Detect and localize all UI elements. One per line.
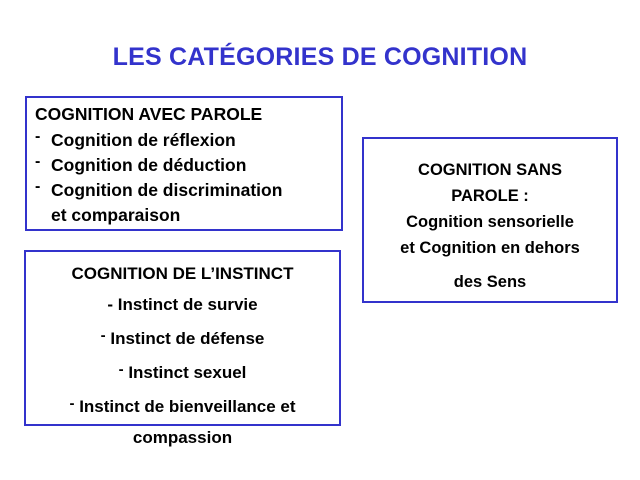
box-heading-instinct: COGNITION DE L’INSTINCT [30,258,335,289]
list-item-label: Instinct sexuel [128,363,246,382]
list-item-label: Cognition de discrimination [51,178,282,203]
list-item: - Instinct de défense [30,320,335,354]
box-line-cognition-en-dehors: et Cognition en dehors [368,235,612,261]
box-line-des-sens: des Sens [368,269,612,295]
box-heading-avec-parole: COGNITION AVEC PAROLE [35,102,341,127]
slide-canvas: { "slide": { "title": "LES CATÉGORIES DE… [0,0,640,480]
dash-bullet-icon: - [101,327,106,344]
dash-bullet-icon: - [119,361,124,378]
category-box-cognition-sans-parole: COGNITION SANS PAROLE : Cognition sensor… [362,137,618,303]
dash-bullet-icon: - [35,174,51,199]
category-box-cognition-de-l-instinct: COGNITION DE L’INSTINCT - Instinct de su… [24,250,341,426]
list-item: - Instinct de bienveillance et [30,388,335,422]
list-item-continuation: et comparaison [35,203,341,228]
dash-bullet-icon: - [35,149,51,174]
list-item-label: Instinct de défense [110,329,264,348]
category-box-cognition-avec-parole: COGNITION AVEC PAROLE -Cognition de réfl… [25,96,343,231]
box-line-cognition-sensorielle: Cognition sensorielle [368,209,612,235]
list-item-label: Cognition de déduction [51,153,246,178]
box-heading-sans-parole-line2: PAROLE : [368,183,612,209]
list-item: - Instinct sexuel [30,354,335,388]
list-item: -Cognition de déduction [35,153,341,178]
list-item-label: - Instinct de survie [107,295,257,314]
page-title: LES CATÉGORIES DE COGNITION [0,42,640,72]
list-item-label: Cognition de réflexion [51,128,236,153]
list-item-continuation: compassion [30,422,335,453]
dash-bullet-icon: - [69,395,74,412]
dash-bullet-icon: - [35,124,51,149]
list-item-label: Instinct de bienveillance et [79,397,295,416]
list-item: -Cognition de discrimination [35,178,341,203]
list-item: - Instinct de survie [30,289,335,320]
box-heading-sans-parole: COGNITION SANS [368,157,612,183]
list-item: -Cognition de réflexion [35,128,341,153]
